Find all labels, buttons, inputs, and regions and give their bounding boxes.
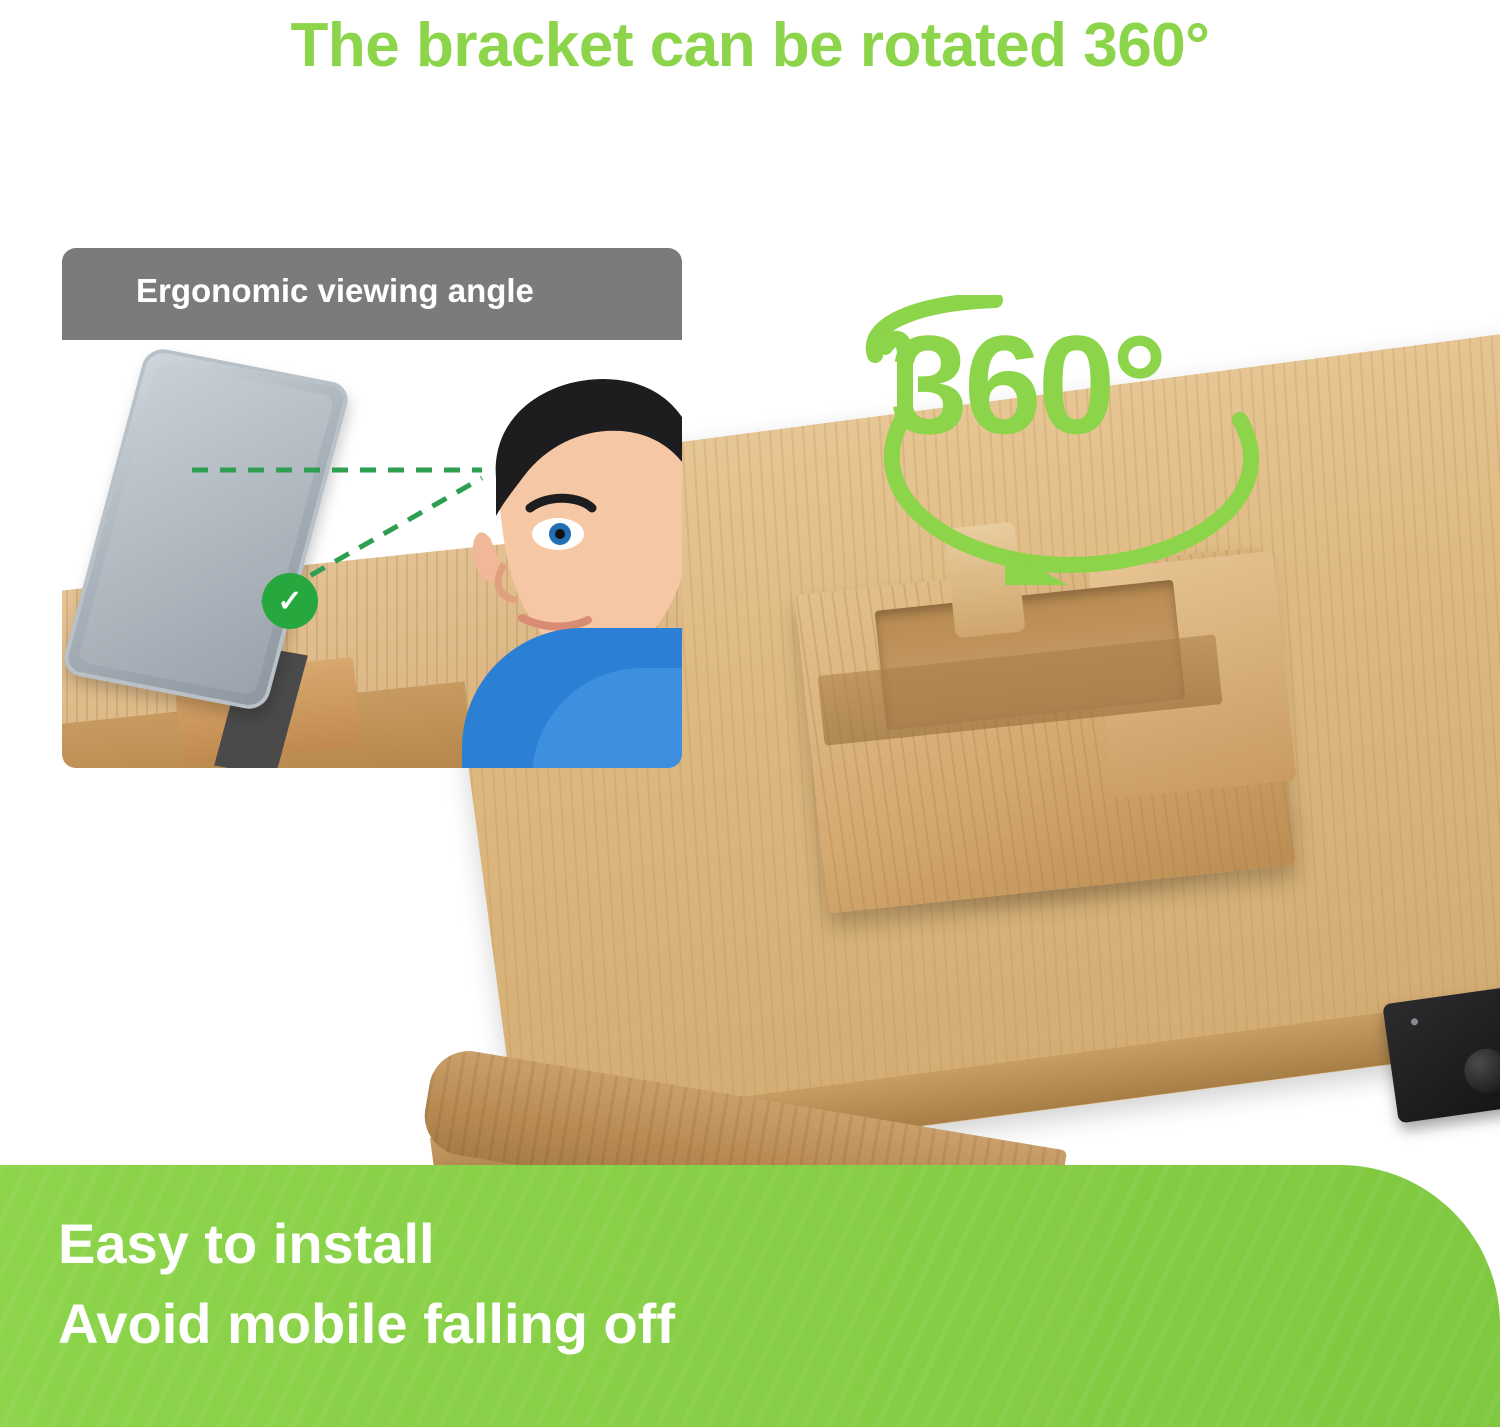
callout-line-2: Avoid mobile falling off <box>58 1291 675 1356</box>
product-feature-image: The bracket can be rotated 360° 360° <box>0 0 1500 1427</box>
device-indicator-dot <box>1411 1018 1419 1026</box>
product-photo: 360° ✓ <box>0 90 1500 1165</box>
inset-banner: Ergonomic viewing angle <box>62 248 682 340</box>
ergonomic-angle-inset: ✓ Ergonomic viewing angle <box>62 248 682 768</box>
bottom-callout-panel: Easy to install Avoid mobile falling off <box>0 1165 1500 1427</box>
page-title: The bracket can be rotated 360° <box>0 0 1500 90</box>
device-knob <box>1462 1046 1500 1096</box>
inset-banner-label: Ergonomic viewing angle <box>136 272 534 310</box>
check-badge: ✓ <box>262 573 318 629</box>
black-device <box>1382 987 1500 1124</box>
rotation-label: 360° <box>890 315 1164 455</box>
callout-line-1: Easy to install <box>58 1211 435 1276</box>
rotation-graphic: 360° <box>845 295 1295 585</box>
